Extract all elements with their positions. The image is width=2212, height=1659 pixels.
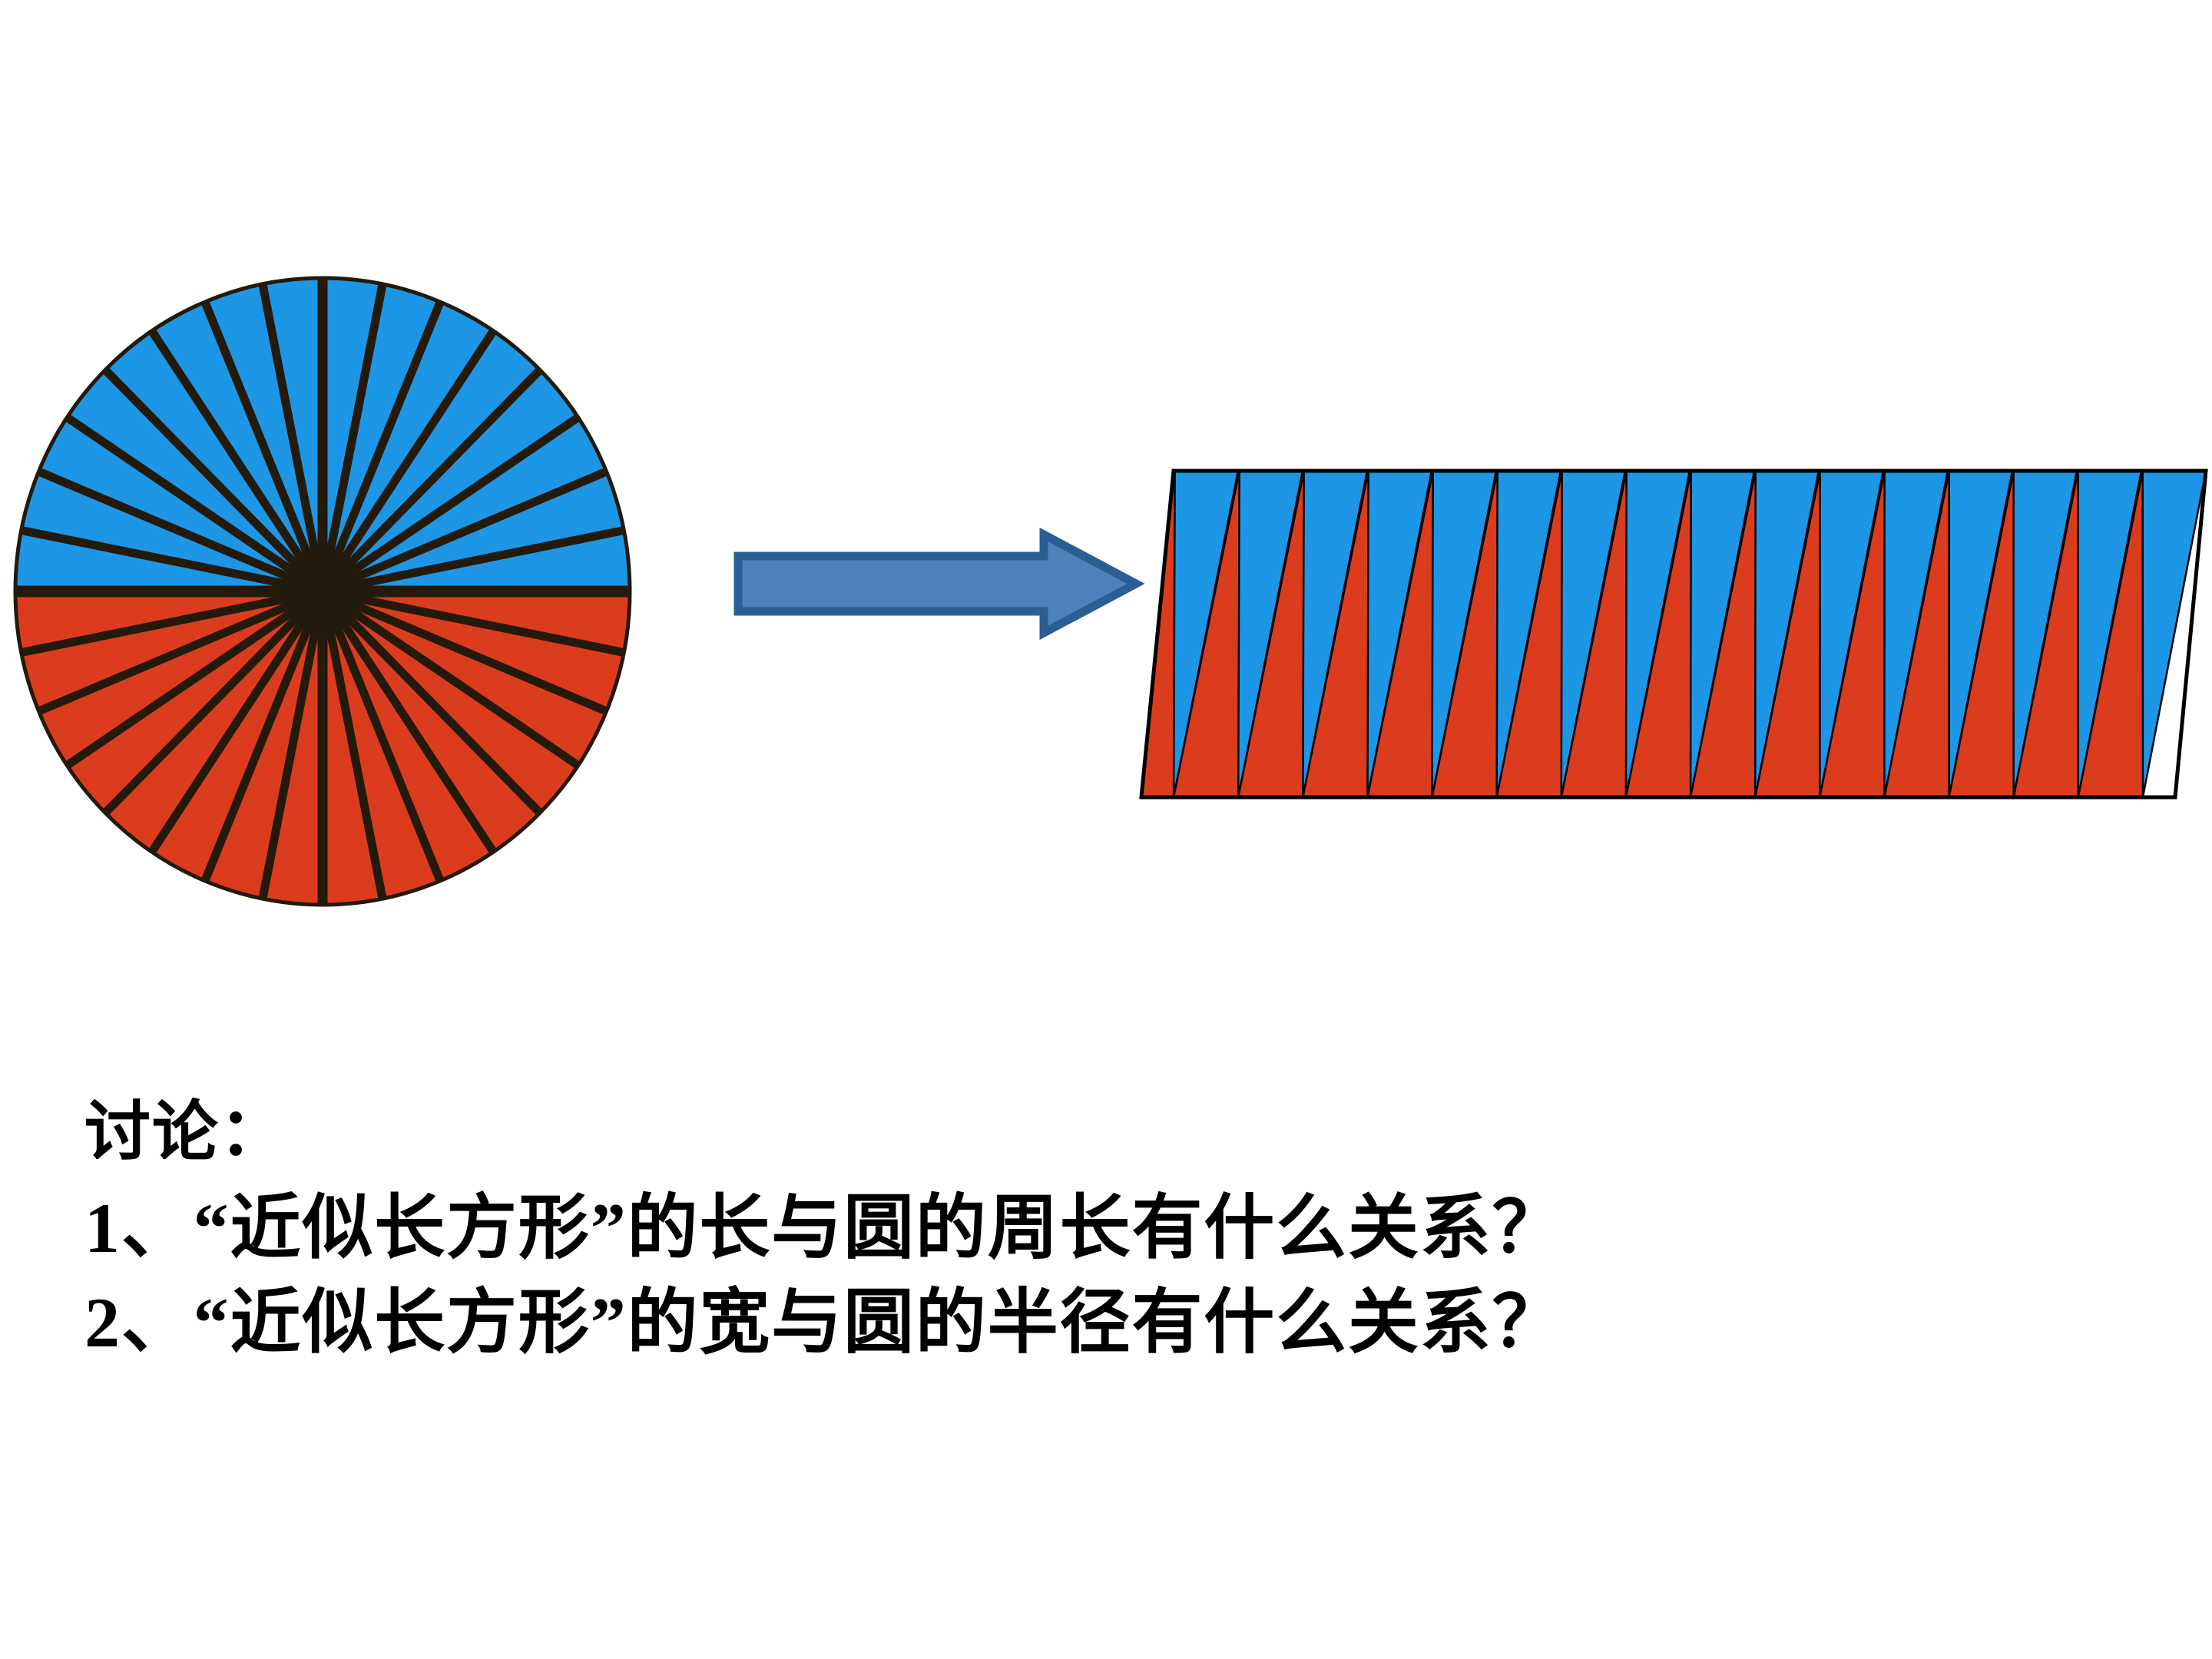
discussion-text-block: 讨论： 1、“近似长方形”的长与圆的周长有什么关系？ 2、“近似长方形”的宽与圆…	[84, 1094, 2158, 1370]
discussion-question-1: 1、“近似长方形”的长与圆的周长有什么关系？	[84, 1181, 2158, 1276]
arrow-svg	[733, 530, 1141, 637]
sector-triangle-down	[2141, 471, 2206, 797]
slide-canvas: 讨论： 1、“近似长方形”的长与圆的周长有什么关系？ 2、“近似长方形”的宽与圆…	[0, 0, 2212, 1659]
right-arrow-icon	[738, 535, 1136, 633]
figure-layer	[0, 0, 2212, 998]
discussion-heading: 讨论：	[84, 1094, 2158, 1171]
circle-svg	[0, 265, 653, 918]
circle-sector-dividers	[5, 267, 641, 916]
discussion-question-2: 2、“近似长方形”的宽与圆的半径有什么关系？	[84, 1276, 2158, 1370]
rectangle-triangles	[1109, 471, 2206, 797]
approximate-rectangle-figure	[1129, 453, 2212, 822]
circle-figure	[0, 265, 653, 918]
transform-arrow	[733, 530, 1141, 637]
rectangle-svg	[1129, 453, 2212, 822]
